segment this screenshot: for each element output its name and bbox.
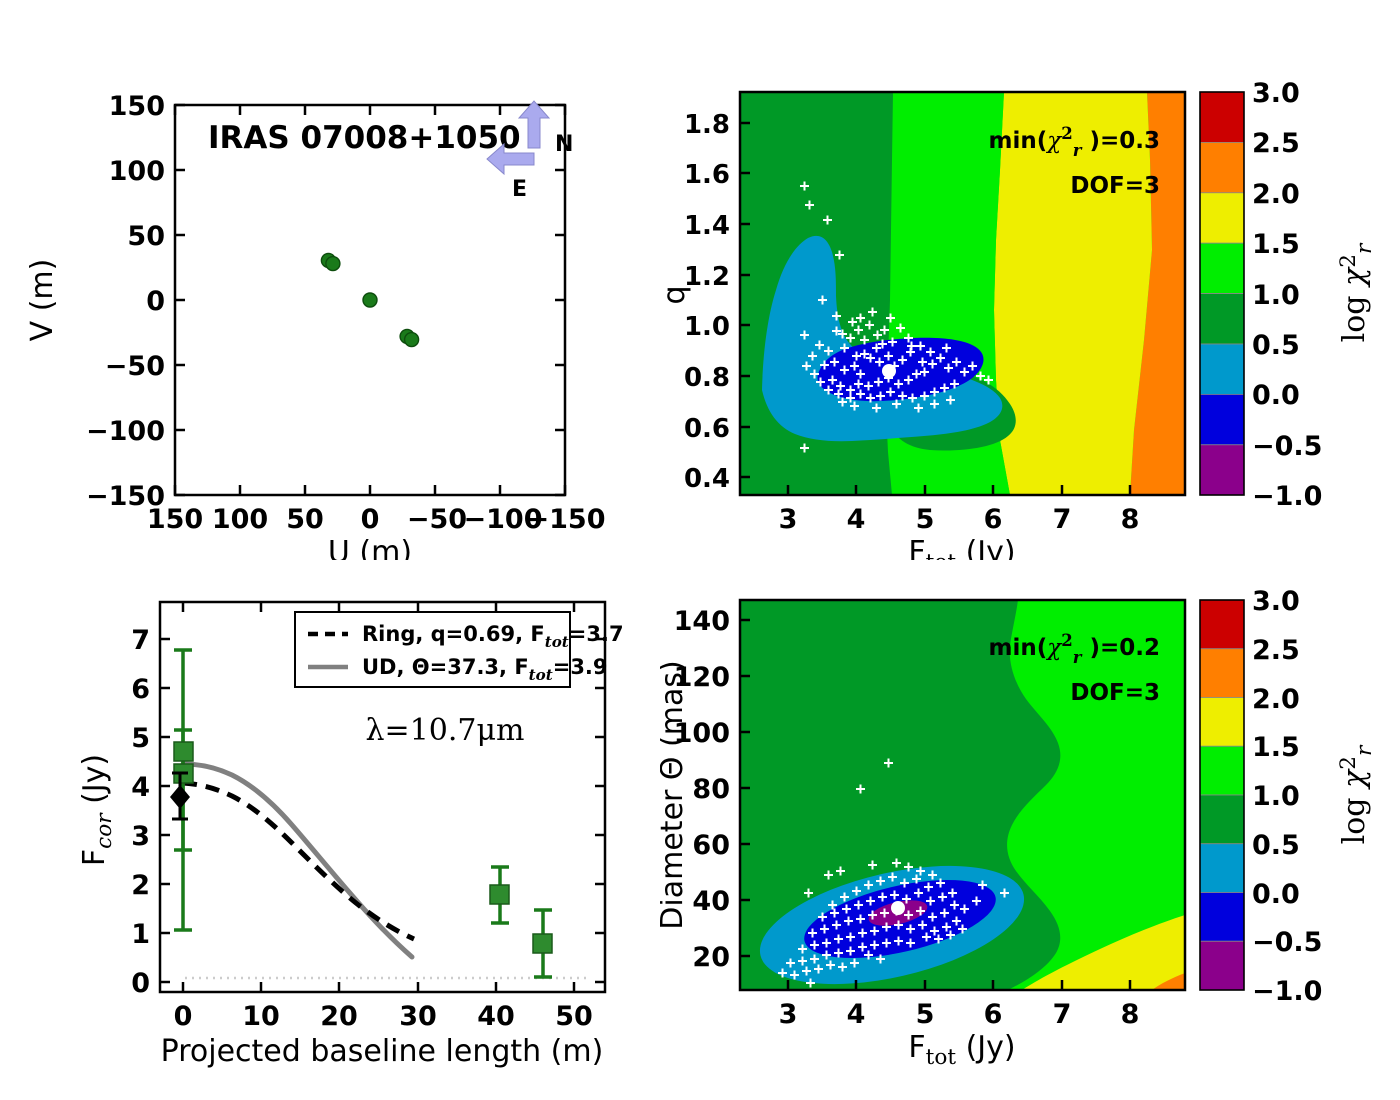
uv-ytick-3: 0 bbox=[146, 286, 165, 317]
uv-xtick-1: 100 bbox=[212, 504, 268, 535]
chi2-ud-xtick-0: 3 bbox=[779, 999, 798, 1030]
vis-ytick-7: 7 bbox=[131, 625, 150, 656]
chi2-ud-colorbar bbox=[1200, 600, 1244, 990]
vis-ytick-1: 1 bbox=[131, 919, 150, 950]
uv-point bbox=[326, 257, 340, 271]
cbar-ring-tick-0: 3.0 bbox=[1252, 78, 1300, 109]
cbar-ud-tick-1: 2.5 bbox=[1252, 635, 1300, 666]
chi2-ring-xtick-0: 3 bbox=[779, 504, 798, 535]
chi2-ring-xtick-5: 8 bbox=[1121, 504, 1140, 535]
cbar-ring-tick-4: 1.0 bbox=[1252, 280, 1300, 311]
chi2-ring-ytick-7: 1.8 bbox=[684, 110, 730, 140]
uv-ytick-0: 150 bbox=[109, 91, 165, 122]
cbar-ring-tick-6: 0.0 bbox=[1252, 380, 1300, 411]
vis-ytick-5: 5 bbox=[131, 723, 150, 754]
uv-xtick-6: −150 bbox=[527, 504, 606, 535]
compass-north-label: N bbox=[555, 132, 573, 157]
chi2-ud-xtick-5: 8 bbox=[1121, 999, 1140, 1030]
chi2-ud-ytick-6: 140 bbox=[674, 606, 730, 637]
chi2-ud-xtick-3: 6 bbox=[984, 999, 1003, 1030]
chi2-ring-ytick-3: 1.0 bbox=[684, 312, 730, 342]
cbar-ring-tick-1: 2.5 bbox=[1252, 128, 1300, 159]
chi2-ud-ytick-1: 40 bbox=[692, 886, 730, 917]
vis-ytick-4: 4 bbox=[131, 772, 150, 803]
cbar-ring-tick-7: −0.5 bbox=[1252, 431, 1322, 462]
vis-xtick-5: 50 bbox=[555, 1001, 593, 1032]
chi2-ud-xtick-1: 4 bbox=[847, 999, 866, 1030]
vis-ytick-2: 2 bbox=[131, 870, 150, 901]
uv-point bbox=[405, 333, 419, 347]
chi2-ring-ytick-6: 1.6 bbox=[684, 160, 730, 190]
uv-xtick-4: −50 bbox=[407, 504, 467, 535]
vis-xtick-1: 10 bbox=[242, 1001, 280, 1032]
uv-plot-title: IRAS 07008+1050 bbox=[208, 120, 521, 156]
chi2-ring-xtick-2: 5 bbox=[916, 504, 935, 535]
vis-ytick-0: 0 bbox=[131, 968, 150, 999]
cbar-ud-tick-4: 1.0 bbox=[1252, 781, 1300, 812]
vis-xtick-4: 40 bbox=[477, 1001, 515, 1032]
uv-xtick-2: 50 bbox=[286, 504, 324, 535]
uv-xtick-3: 0 bbox=[361, 504, 380, 535]
chi2-ring-ytick-5: 1.4 bbox=[684, 211, 730, 241]
cbar-ring-tick-3: 1.5 bbox=[1252, 229, 1300, 260]
chi2-ud-xtick-4: 7 bbox=[1053, 999, 1072, 1030]
uv-ytick-6: −150 bbox=[86, 481, 165, 512]
panel-chi2-ring: 3 4 5 6 7 8 0.4 0.6 0.8 1.0 1.2 1.4 bbox=[660, 0, 1400, 560]
cbar-ring-tick-5: 0.5 bbox=[1252, 330, 1300, 361]
cbar-ud-tick-2: 2.0 bbox=[1252, 684, 1300, 715]
cbar-ud-tick-0: 3.0 bbox=[1252, 586, 1300, 617]
chi2-ud-ytick-2: 60 bbox=[692, 830, 730, 861]
data-marker-square bbox=[533, 934, 552, 953]
cbar-ring-tick-2: 2.0 bbox=[1252, 179, 1300, 210]
chi2-ud-xtick-2: 5 bbox=[916, 999, 935, 1030]
chi2-ring-colorbar bbox=[1200, 92, 1244, 495]
vis-ytick-6: 6 bbox=[131, 674, 150, 705]
cbar-ring-label: log χ2r bbox=[1336, 242, 1377, 342]
chi2-ud-ytick-0: 20 bbox=[692, 942, 730, 973]
uv-ytick-1: 100 bbox=[109, 156, 165, 187]
chi2-ring-xtick-4: 7 bbox=[1053, 504, 1072, 535]
vis-xaxis-label: Projected baseline length (m) bbox=[161, 1034, 604, 1069]
cbar-ud-tick-5: 0.5 bbox=[1252, 830, 1300, 861]
chi2-ud-dof-annotation: DOF=3 bbox=[1070, 680, 1160, 706]
panel-visibility-curve: Ring, q=0.69, Ftot=3.7 UD, Θ=37.3, Ftot=… bbox=[0, 545, 660, 1100]
chi2-ud-best-fit-marker bbox=[891, 901, 905, 915]
figure-root: 150 100 50 0 −50 −100 −150 150 100 50 0 … bbox=[0, 0, 1400, 1100]
chi2-ring-best-fit-marker bbox=[882, 364, 896, 378]
chi2-ring-xtick-3: 6 bbox=[984, 504, 1003, 535]
uv-ytick-4: −50 bbox=[105, 351, 165, 382]
chi2-ring-ytick-1: 0.6 bbox=[684, 414, 730, 444]
uv-ytick-5: −100 bbox=[86, 416, 165, 447]
vis-xtick-0: 0 bbox=[174, 1001, 193, 1032]
vis-ytick-3: 3 bbox=[131, 821, 150, 852]
chi2-ud-ytick-3: 80 bbox=[692, 774, 730, 805]
data-marker-square bbox=[490, 885, 509, 904]
chi2-ring-dof-annotation: DOF=3 bbox=[1070, 173, 1160, 199]
vis-xtick-2: 20 bbox=[320, 1001, 358, 1032]
data-marker-square bbox=[174, 742, 193, 761]
cbar-ud-tick-3: 1.5 bbox=[1252, 732, 1300, 763]
vis-xtick-3: 30 bbox=[399, 1001, 437, 1032]
cbar-ud-label: log χ2r bbox=[1336, 744, 1377, 844]
panel-uv-coverage: 150 100 50 0 −50 −100 −150 150 100 50 0 … bbox=[0, 0, 660, 560]
uv-ytick-2: 50 bbox=[127, 221, 165, 252]
lambda-annotation: λ=10.7μm bbox=[366, 713, 525, 748]
cbar-ud-tick-6: 0.0 bbox=[1252, 879, 1300, 910]
uv-point bbox=[363, 293, 377, 307]
chi2-ring-ytick-2: 0.8 bbox=[684, 363, 730, 393]
compass-east-label: E bbox=[512, 177, 527, 202]
cbar-ud-tick-8: −1.0 bbox=[1252, 976, 1322, 1007]
panel-chi2-ud: 3 4 5 6 7 8 20 40 60 80 100 120 140 bbox=[660, 545, 1400, 1100]
chi2-ring-ytick-0: 0.4 bbox=[684, 464, 730, 494]
chi2-ud-yaxis-label: Diameter Θ (mas) bbox=[660, 660, 690, 929]
uv-yaxis-label: V (m) bbox=[25, 259, 60, 342]
chi2-ring-yaxis-label: q bbox=[660, 285, 692, 304]
vis-yaxis-label: Fcor (Jy) bbox=[77, 754, 117, 866]
cbar-ud-tick-7: −0.5 bbox=[1252, 927, 1322, 958]
chi2-ud-xaxis-label: Ftot (Jy) bbox=[908, 1030, 1015, 1070]
chi2-ring-xtick-1: 4 bbox=[847, 504, 866, 535]
cbar-ring-tick-8: −1.0 bbox=[1252, 481, 1322, 512]
